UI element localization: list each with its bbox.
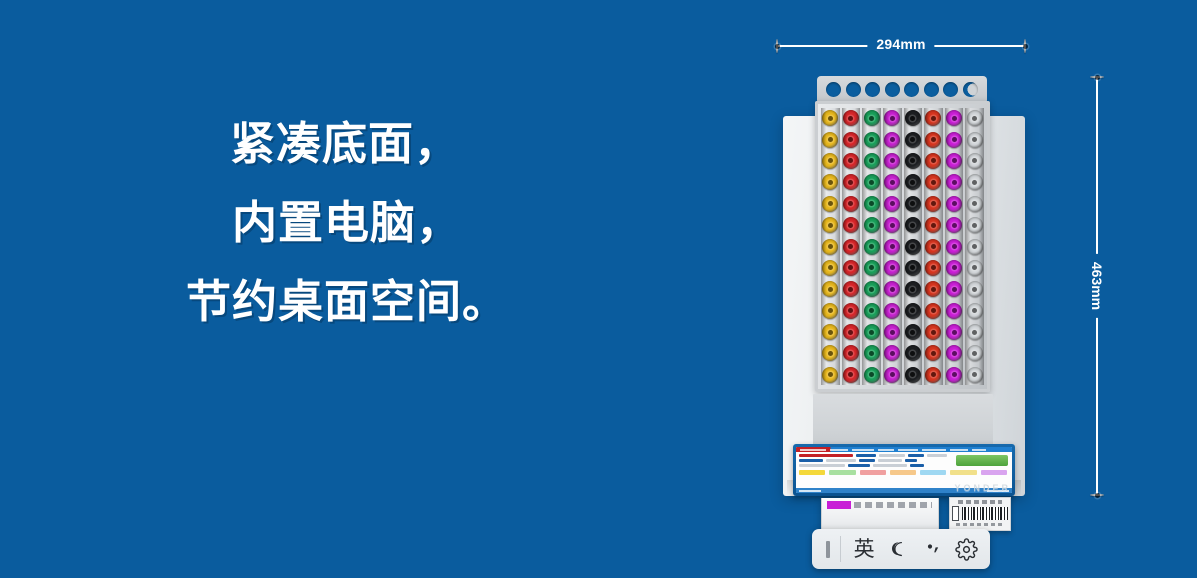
label-footer-text [956,523,1004,526]
tray-tab [827,501,851,509]
tube-cap [862,343,881,363]
tube-cap [842,172,861,192]
tube-cap [904,172,923,192]
gear-icon [955,538,978,561]
tube-cap [924,343,943,363]
barcode-label-card [949,497,1011,531]
tube-cap [965,279,984,299]
tube-cap [862,215,881,235]
tube-cap [965,172,984,192]
drag-handle-icon[interactable] [826,541,830,558]
tube-cap [821,322,840,342]
label-body [952,505,1008,521]
tube-cap [945,108,964,128]
tube-cap [924,365,943,385]
tube-cap [924,129,943,149]
tube-cap [862,365,881,385]
moon-icon [886,537,910,561]
tube-cap [842,236,861,256]
tube-cap [883,322,902,342]
tube-cap [965,301,984,321]
tube-cap [904,151,923,171]
tube-cap [945,129,964,149]
tube-cap [862,151,881,171]
tube-cap [945,365,964,385]
tube-cap [965,215,984,235]
label-header-text [958,500,1002,504]
tray-text [854,502,932,508]
tube-cap [904,279,923,299]
tube-rack-column [862,108,881,385]
slide-background: 紧凑底面， 内置电脑， 节约桌面空间。 294mm 463mm [0,0,1197,578]
tube-cap [842,151,861,171]
tube-cap [904,258,923,278]
tube-cap [862,279,881,299]
tube-rack-column [883,108,902,385]
tube-cap [945,215,964,235]
tube-cap [842,322,861,342]
rack-hole [943,82,958,97]
page-title: 紧凑底面， 内置电脑， 节约桌面空间。 [186,104,656,341]
tube-cap [945,236,964,256]
tube-cap [945,151,964,171]
tube-cap [842,108,861,128]
dimension-cap-top [1090,76,1104,78]
tube-cap [945,322,964,342]
headline-line-1: 紧凑底面， [186,104,656,183]
tube-cap [904,343,923,363]
tube-cap [904,236,923,256]
tube-cap [883,301,902,321]
tube-rack-column [904,108,923,385]
tube-cap [862,258,881,278]
rack-hole [885,82,900,97]
toolbar-divider [840,536,841,562]
tube-cap [883,108,902,128]
tube-cap [904,322,923,342]
tube-cap [842,301,861,321]
tube-cap [945,279,964,299]
tube-cap [965,365,984,385]
tube-cap [945,301,964,321]
tube-cap [821,279,840,299]
tube-cap [821,172,840,192]
tube-cap [965,236,984,256]
tube-cap [883,236,902,256]
tube-cap [883,215,902,235]
tube-cap [924,151,943,171]
tube-cap [862,129,881,149]
tube-rack-column [842,108,861,385]
tube-cap [904,215,923,235]
tube-cap [965,322,984,342]
tube-cap [821,129,840,149]
tube-cap [862,172,881,192]
tube-cap [945,343,964,363]
tube-cap [945,258,964,278]
headline-line-2: 内置电脑， [186,183,656,262]
tube-cap [965,343,984,363]
tube-cap [965,258,984,278]
tube-cap [821,215,840,235]
tube-cap [883,365,902,385]
rack-hole [865,82,880,97]
tube-cap [883,194,902,214]
product-image: YONDER [783,72,1025,504]
tube-cap [842,365,861,385]
tube-cap [924,215,943,235]
tube-cap [965,194,984,214]
rack-hole [963,82,978,97]
tube-cap [883,279,902,299]
tube-cap [821,343,840,363]
tube-cap [821,194,840,214]
height-dimension: 463mm [1087,76,1107,496]
tube-cap [924,279,943,299]
tube-glyph [952,506,959,521]
tube-cap [821,236,840,256]
headline-line-3: 节约桌面空间。 [186,262,656,341]
tube-cap [821,108,840,128]
tube-cap [883,258,902,278]
tube-cap [883,172,902,192]
height-dimension-label: 463mm [1087,254,1107,318]
device-top-cover [817,76,987,102]
tube-cap [842,194,861,214]
tube-rack-column [945,108,964,385]
tube-cap [883,343,902,363]
rack-hole [904,82,919,97]
tube-rack-column [924,108,943,385]
tube-cap [924,322,943,342]
rack-hole [924,82,939,97]
brand-logo: YONDER [954,483,1011,493]
tube-cap [842,343,861,363]
punctuation-icon [922,538,944,560]
tube-cap [862,194,881,214]
tube-cap [821,301,840,321]
tube-cap [924,172,943,192]
tube-cap [945,172,964,192]
tube-cap [924,301,943,321]
tube-cap [965,129,984,149]
dimension-cap-right [1024,39,1026,53]
width-dimension-label: 294mm [867,34,934,54]
tube-cap [842,215,861,235]
rack-hole [826,82,841,97]
tube-cap [821,365,840,385]
ime-language-toggle[interactable]: 英 [847,533,881,565]
tube-cap [821,151,840,171]
tube-cap [842,258,861,278]
tube-cap [904,301,923,321]
tube-cap [904,365,923,385]
barcode-icon [962,507,1008,520]
ime-language-label: 英 [854,539,875,560]
ime-settings-button[interactable] [950,533,984,565]
tube-cap [904,129,923,149]
tube-rack [815,101,990,392]
tube-cap [924,258,943,278]
tube-cap [904,194,923,214]
dimension-cap-left [776,39,778,53]
rack-hole [846,82,861,97]
tube-cap [965,108,984,128]
tube-cap [842,129,861,149]
tube-cap [883,129,902,149]
ime-punctuation-toggle[interactable] [916,533,950,565]
tube-cap [924,194,943,214]
dimension-cap-bottom [1090,494,1104,496]
tube-cap [924,108,943,128]
tube-cap [924,236,943,256]
tube-cap [965,151,984,171]
width-dimension: 294mm [776,36,1026,56]
tube-cap [945,194,964,214]
screen-status-chips [799,470,1009,475]
tube-cap [883,151,902,171]
tube-cap [862,108,881,128]
tube-rack-column [965,108,984,385]
ime-toolbar[interactable]: 英 [812,529,990,569]
tube-cap [862,236,881,256]
tube-cap [821,258,840,278]
tube-rack-column [821,108,840,385]
tube-cap [862,322,881,342]
tube-cap [862,301,881,321]
tube-cap [842,279,861,299]
tube-cap [904,108,923,128]
screen-action-button [956,455,1008,466]
ime-moon-mode-toggle[interactable] [881,533,915,565]
